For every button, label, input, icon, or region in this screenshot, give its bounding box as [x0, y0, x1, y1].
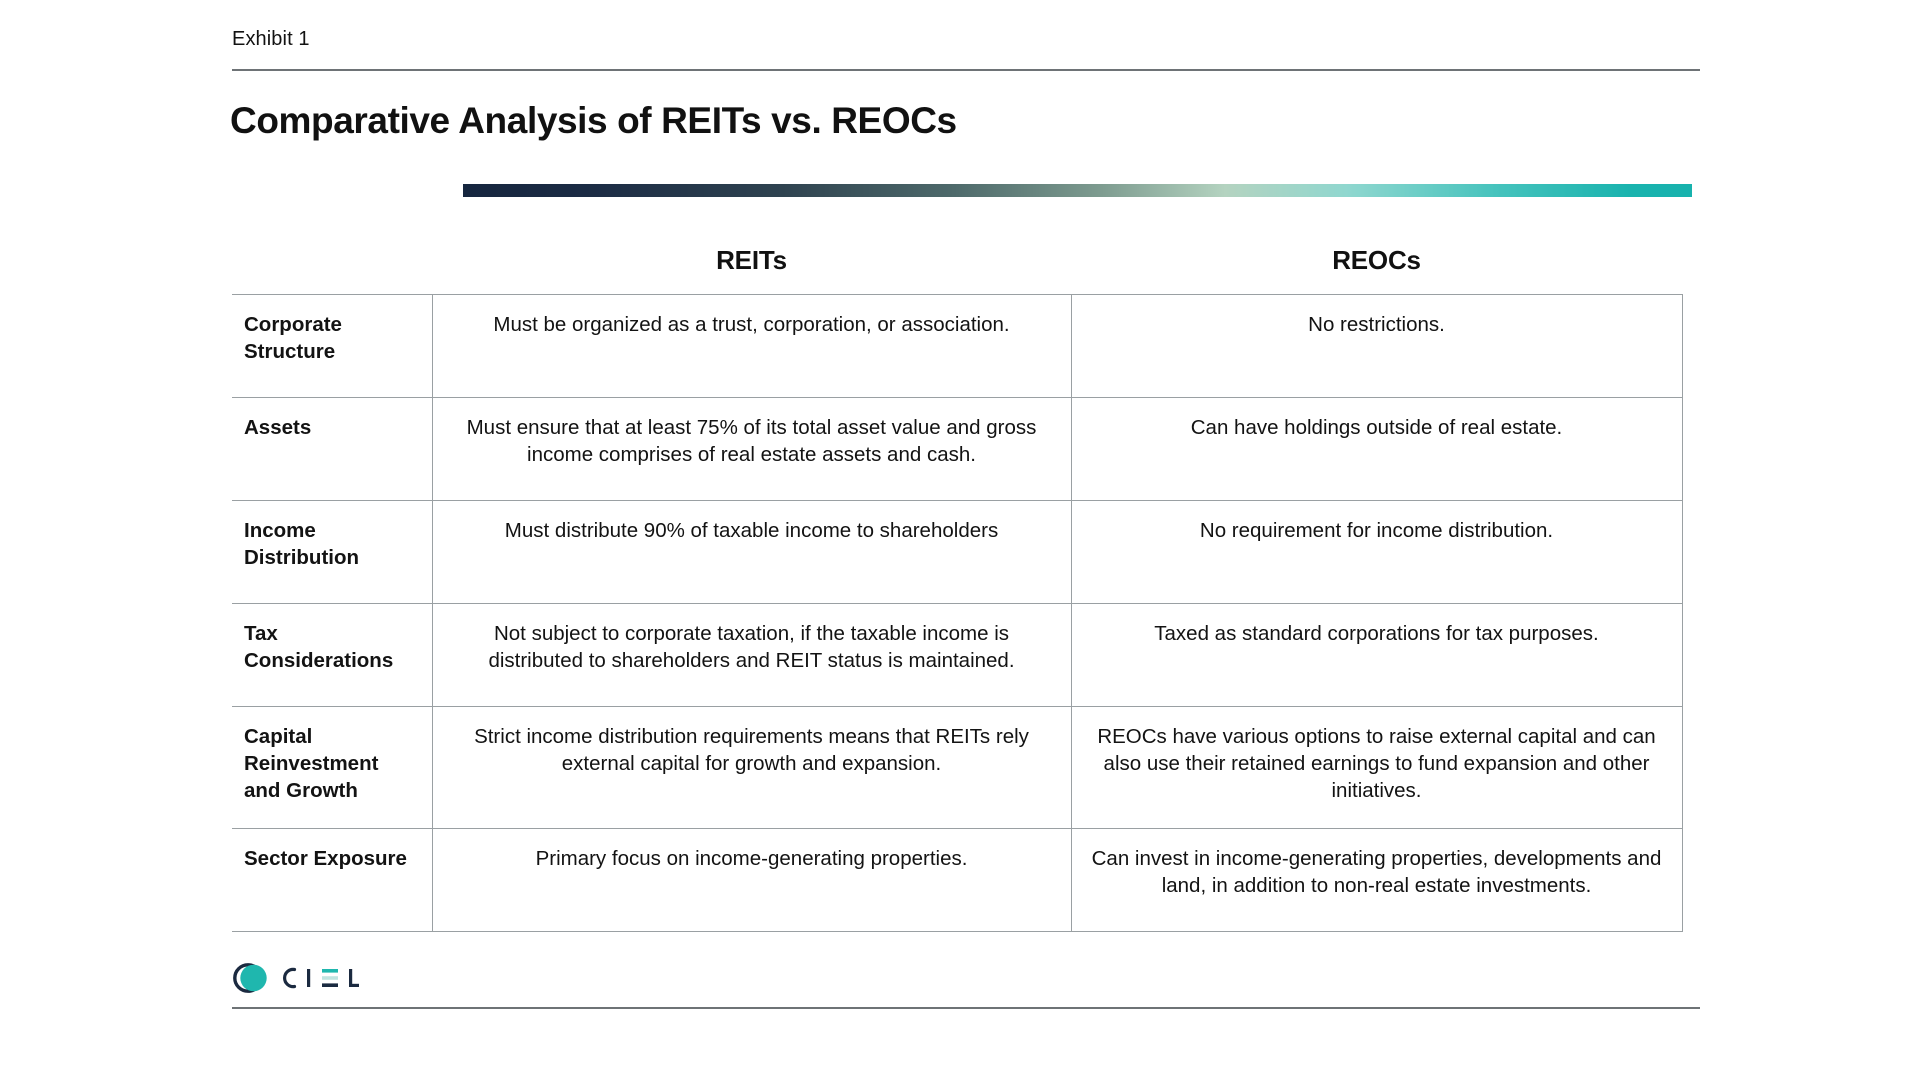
- column-header-reits: REITs: [432, 245, 1071, 295]
- table-header: REITs REOCs: [232, 245, 1682, 295]
- cell-reocs: Taxed as standard corporations for tax p…: [1071, 604, 1682, 707]
- cell-reits: Must be organized as a trust, corporatio…: [432, 295, 1071, 398]
- row-label: Sector Exposure: [232, 829, 432, 932]
- ciel-logo: [232, 959, 372, 997]
- logo-letter-e: [322, 969, 338, 987]
- row-label: Assets: [232, 398, 432, 501]
- cell-reocs: Can invest in income-generating properti…: [1071, 829, 1682, 932]
- row-label: Corporate Structure: [232, 295, 432, 398]
- row-label: Tax Considerations: [232, 604, 432, 707]
- table-row: Capital Reinvestment and Growth Strict i…: [232, 707, 1682, 829]
- exhibit-label: Exhibit 1: [232, 28, 310, 51]
- table-row: Income Distribution Must distribute 90% …: [232, 501, 1682, 604]
- ciel-circles-icon: [235, 965, 267, 991]
- footer-logo: [232, 958, 372, 998]
- column-header-reocs: REOCs: [1071, 245, 1682, 295]
- footer-divider: [232, 1007, 1700, 1009]
- page-title: Comparative Analysis of REITs vs. REOCs: [230, 100, 957, 142]
- logo-letter-l: [349, 969, 359, 987]
- cell-reits: Primary focus on income-generating prope…: [432, 829, 1071, 932]
- cell-reits: Must distribute 90% of taxable income to…: [432, 501, 1071, 604]
- table-row: Tax Considerations Not subject to corpor…: [232, 604, 1682, 707]
- table-body: Corporate Structure Must be organized as…: [232, 295, 1682, 932]
- column-header-label: [232, 245, 432, 295]
- cell-reits: Must ensure that at least 75% of its tot…: [432, 398, 1071, 501]
- row-label: Income Distribution: [232, 501, 432, 604]
- row-label: Capital Reinvestment and Growth: [232, 707, 432, 829]
- table-header-row: REITs REOCs: [232, 245, 1682, 295]
- header-divider: [232, 69, 1700, 71]
- table-row: Assets Must ensure that at least 75% of …: [232, 398, 1682, 501]
- exhibit-page: Exhibit 1 Comparative Analysis of REITs …: [0, 0, 1920, 1079]
- gradient-divider: [463, 184, 1692, 197]
- cell-reits: Strict income distribution requirements …: [432, 707, 1071, 829]
- cell-reocs: No restrictions.: [1071, 295, 1682, 398]
- table-row: Sector Exposure Primary focus on income-…: [232, 829, 1682, 932]
- cell-reocs: No requirement for income distribution.: [1071, 501, 1682, 604]
- table-row: Corporate Structure Must be organized as…: [232, 295, 1682, 398]
- cell-reocs: Can have holdings outside of real estate…: [1071, 398, 1682, 501]
- cell-reits: Not subject to corporate taxation, if th…: [432, 604, 1071, 707]
- logo-letter-i: [307, 969, 310, 987]
- logo-letter-c: [285, 969, 295, 986]
- cell-reocs: REOCs have various options to raise exte…: [1071, 707, 1682, 829]
- comparison-table: REITs REOCs Corporate Structure Must be …: [232, 245, 1683, 932]
